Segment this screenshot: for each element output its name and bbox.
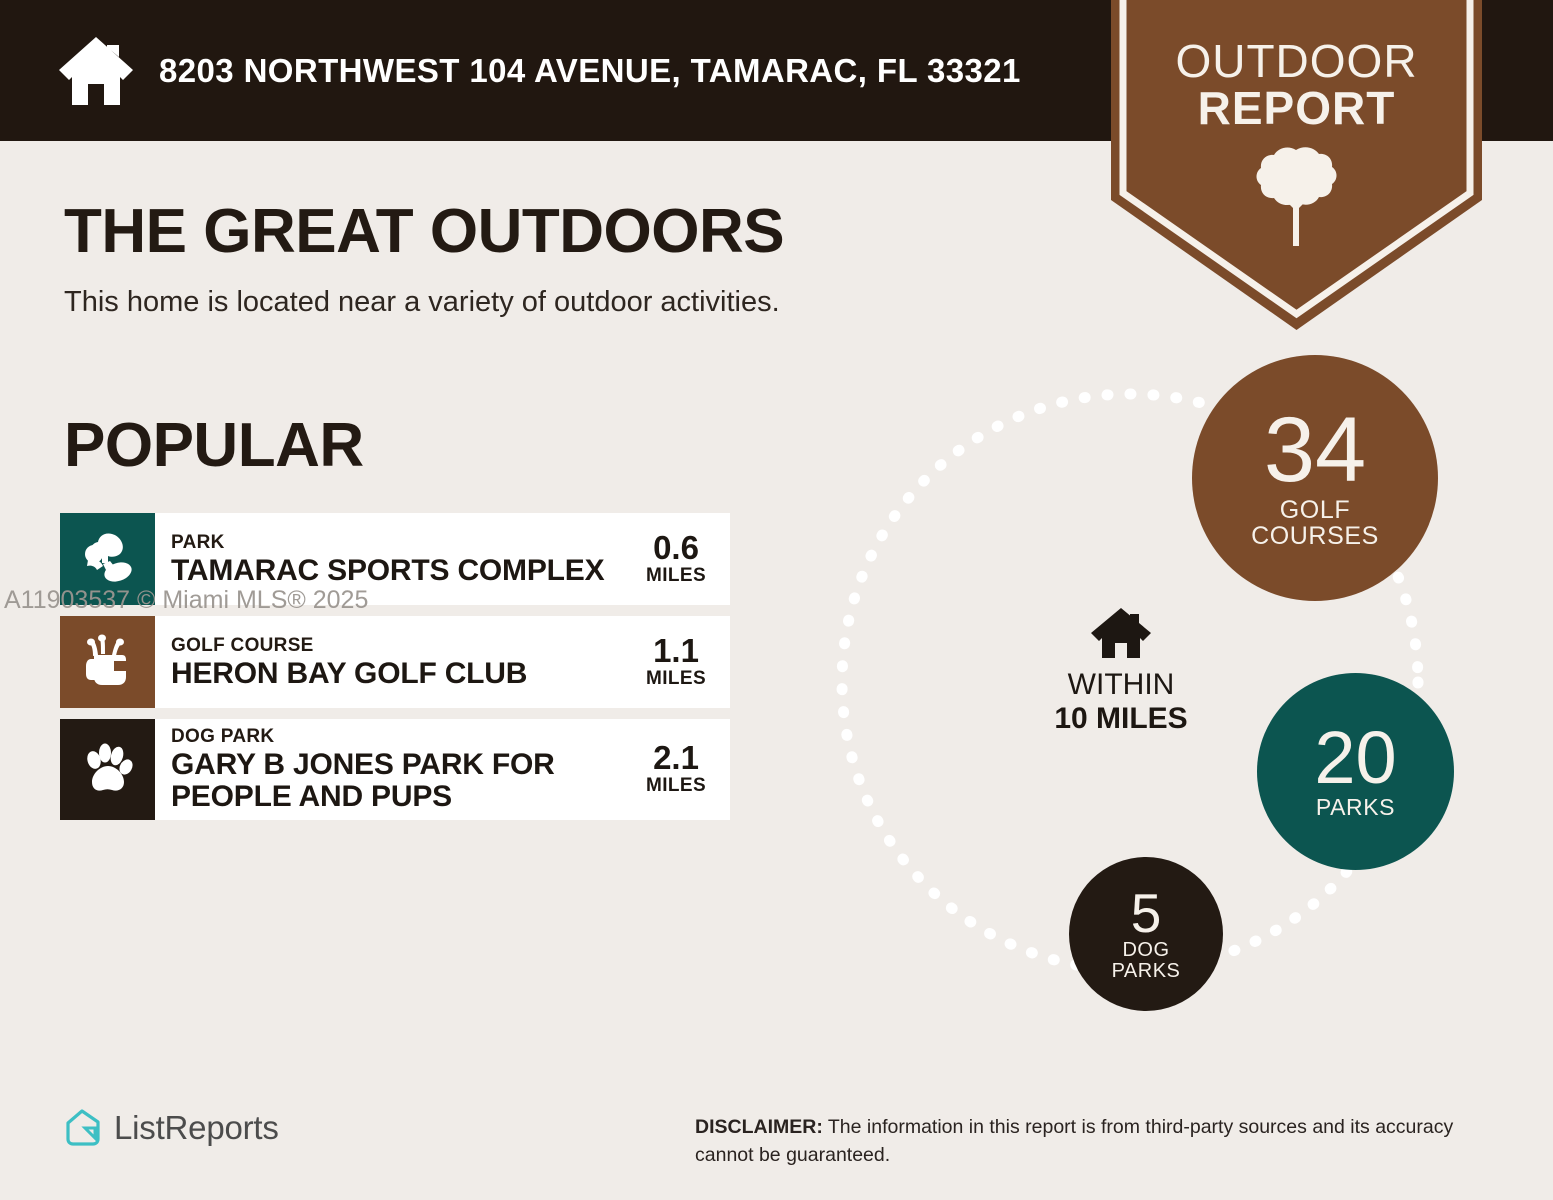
stat-bubble-golf-courses: 34 GOLF COURSES	[1192, 355, 1438, 601]
home-icon	[1018, 606, 1224, 660]
within-radius-callout: WITHIN 10 MILES	[1018, 606, 1224, 735]
stat-value: 20	[1314, 723, 1396, 793]
stat-label-line-2: PARKS	[1112, 961, 1181, 982]
stat-bubble-dog-parks: 5 DOG PARKS	[1069, 857, 1223, 1011]
stat-label-line-1: PARKS	[1316, 796, 1395, 820]
mls-watermark: A11903537 © Miami MLS® 2025	[4, 586, 368, 615]
stat-label-line-2: COURSES	[1251, 523, 1379, 549]
within-line-1: WITHIN	[1018, 668, 1224, 702]
stat-label-line-1: GOLF	[1280, 497, 1350, 523]
outdoor-report-badge: OUTDOOR REPORT	[1111, 0, 1482, 330]
stat-value: 5	[1131, 887, 1162, 939]
within-line-2: 10 MILES	[1018, 702, 1224, 736]
stat-bubble-parks: 20 PARKS	[1257, 673, 1454, 870]
outdoor-report-page: 8203 NORTHWEST 104 AVENUE, TAMARAC, FL 3…	[0, 0, 1553, 1200]
stat-value: 34	[1264, 407, 1366, 494]
stat-label-line-1: DOG	[1122, 940, 1169, 961]
